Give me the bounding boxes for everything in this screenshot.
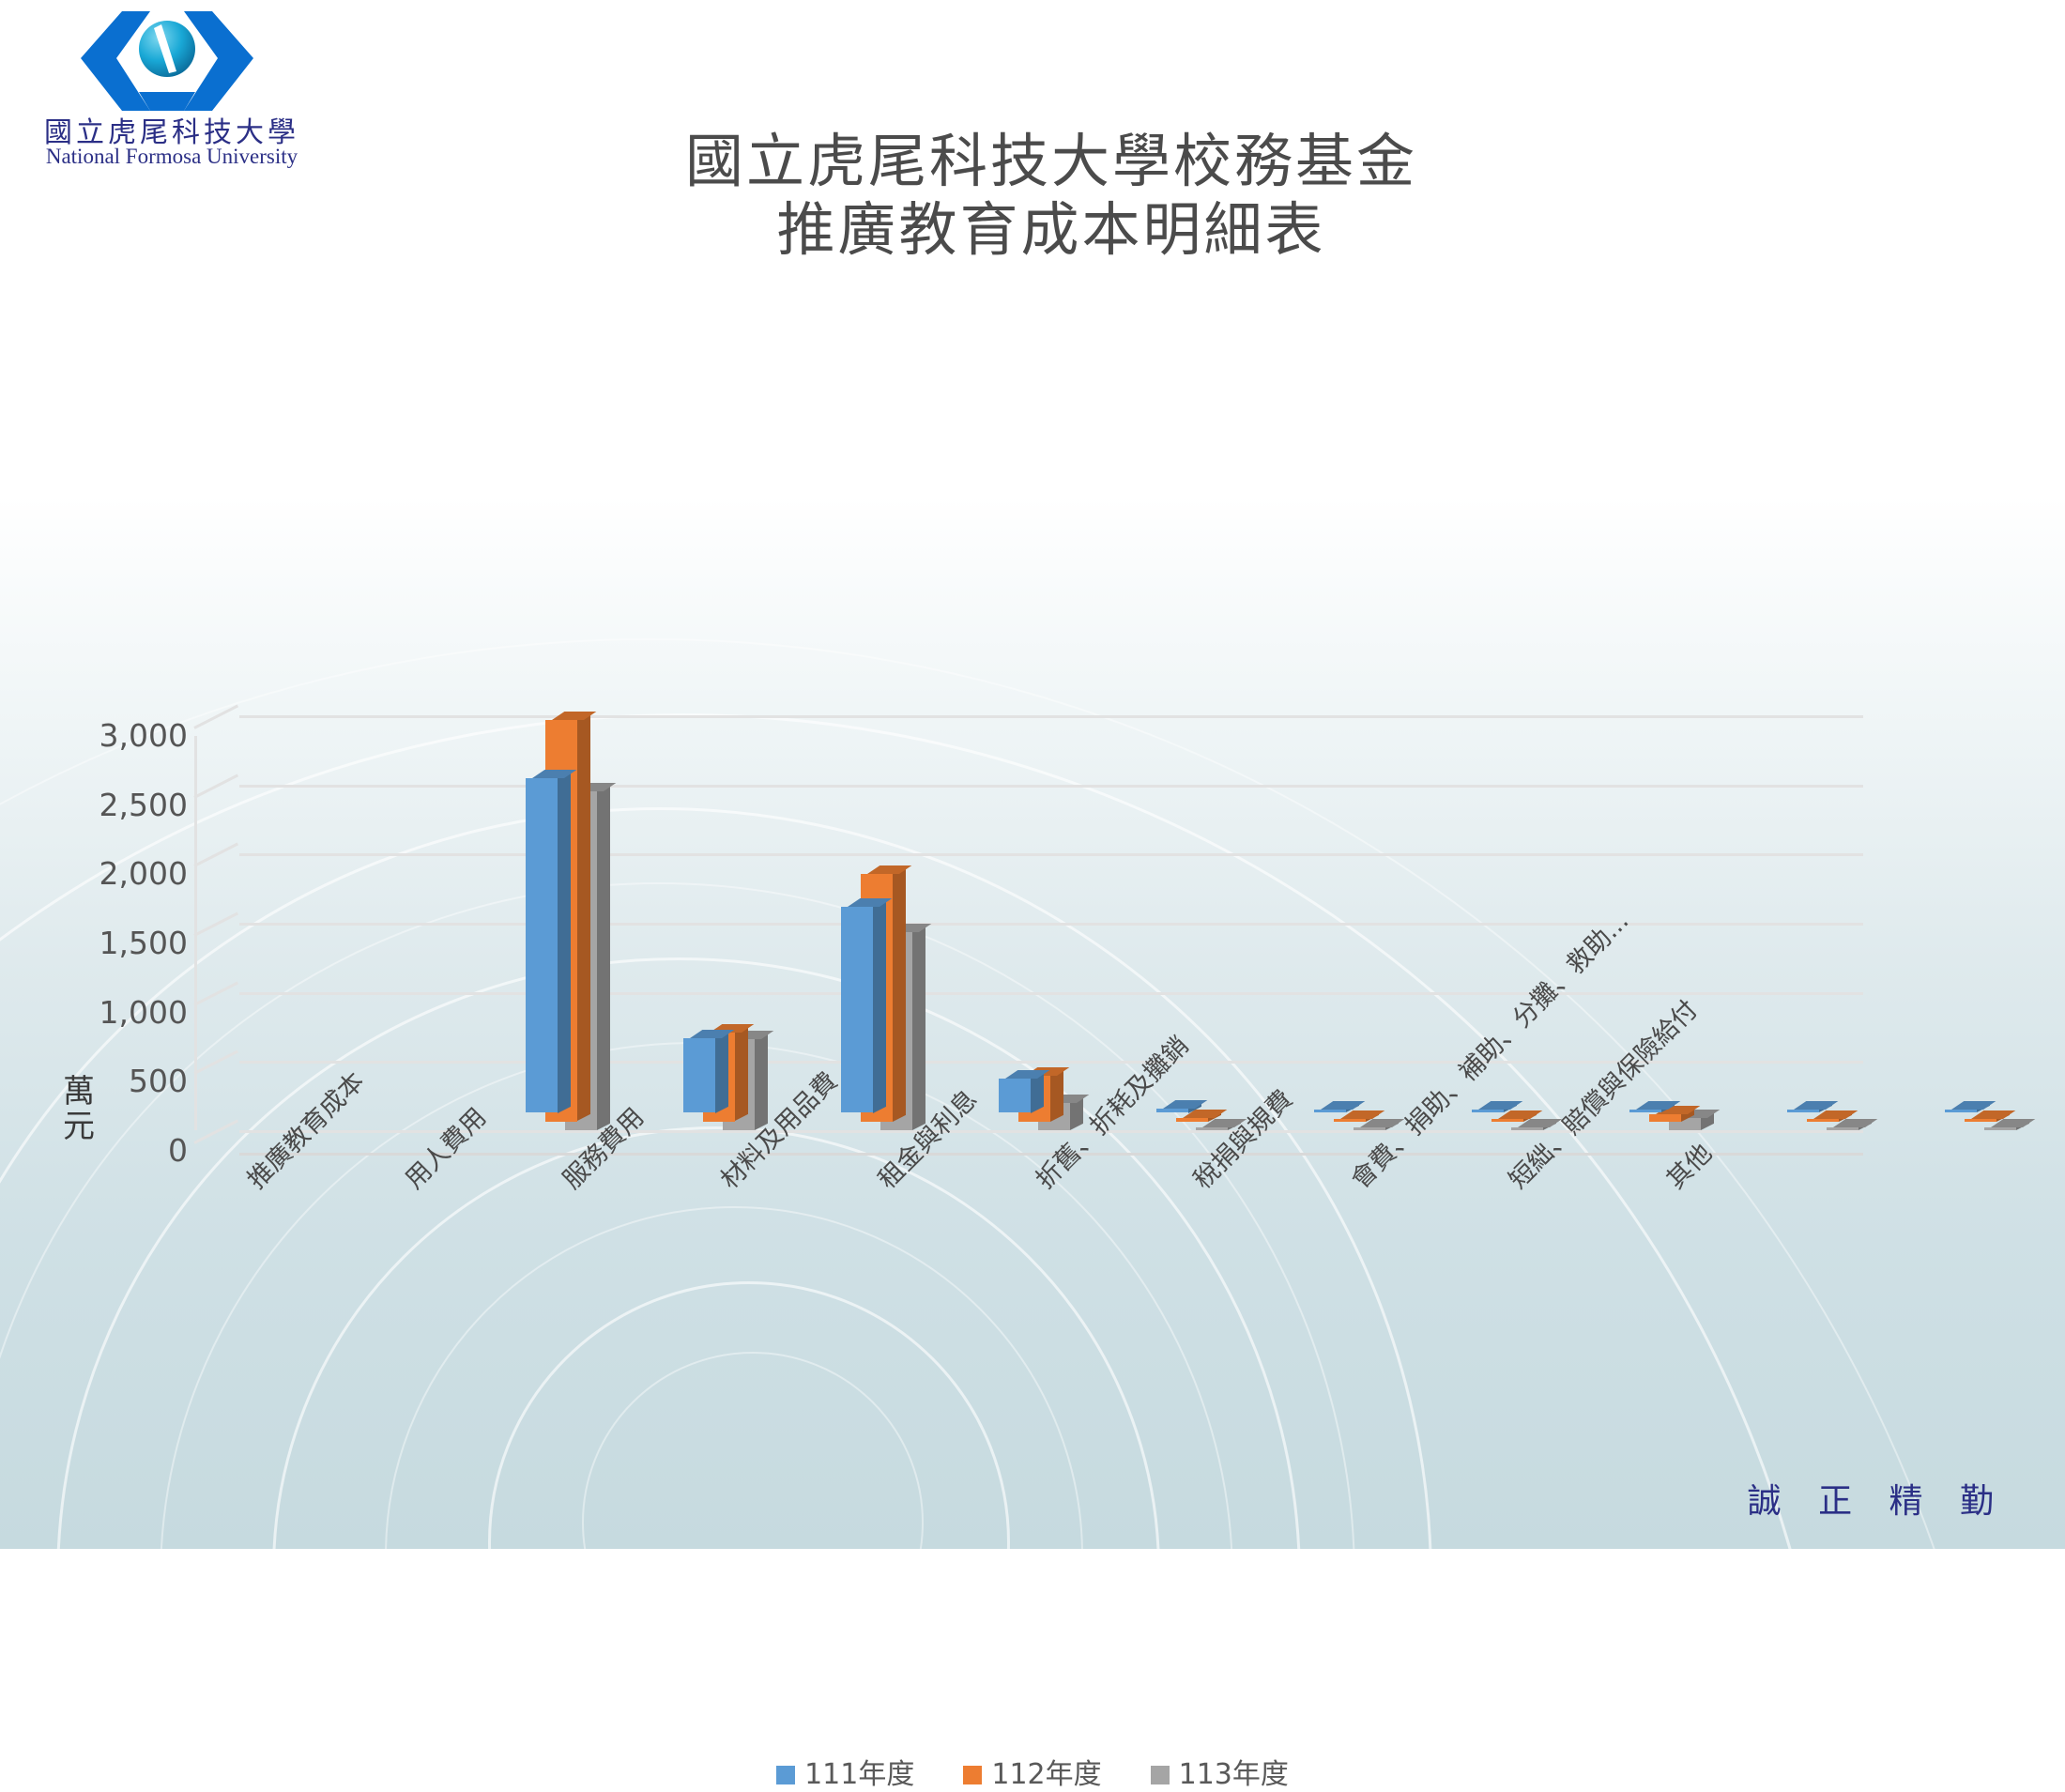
bar-face	[1314, 1110, 1346, 1112]
bar-side	[873, 900, 886, 1113]
bar-5-series-1	[1156, 1109, 1188, 1113]
bar-face	[1491, 1119, 1523, 1122]
bar-face	[683, 1038, 715, 1113]
x-axis-labels: 推廣教育成本用人費用服務費用材料及用品費租金與利息折舊、折耗及攤銷稅捐與規費會費…	[0, 357, 2065, 826]
legend-label: 113年度	[1179, 1758, 1289, 1791]
university-logo: 國立虎尾科技大學 National Formosa University	[17, 8, 327, 176]
bar-face	[1156, 1109, 1188, 1113]
bar-7-series-2	[1491, 1119, 1523, 1122]
title-line-2: 推廣教育成本明細表	[394, 195, 1708, 264]
bar-9-series-1	[1787, 1110, 1819, 1112]
gridline-riser	[193, 912, 238, 937]
legend-swatch-icon	[1151, 1766, 1170, 1784]
bar-face	[1984, 1127, 2016, 1130]
bar-3-series-1	[841, 907, 873, 1113]
bar-10-series-2	[1965, 1119, 1996, 1122]
legend-item-2[interactable]: 112年度	[963, 1751, 1101, 1792]
bar-face	[1965, 1119, 1996, 1122]
legend-swatch-icon	[776, 1766, 795, 1784]
bar-side	[912, 926, 925, 1130]
bar-chart: 萬元 05001,0001,5002,0002,5003,000 推廣教育成本用…	[0, 357, 2065, 1483]
bar-9-series-2	[1807, 1119, 1839, 1122]
bar-face	[999, 1079, 1031, 1113]
bar-face	[1827, 1127, 1858, 1130]
bar-10-series-1	[1945, 1110, 1977, 1112]
bar-10-series-3	[1984, 1127, 2016, 1130]
title-line-1: 國立虎尾科技大學校務基金	[685, 127, 1417, 195]
y-tick-label: 0	[19, 1132, 188, 1169]
page-title: 國立虎尾科技大學校務基金 推廣教育成本明細表	[394, 127, 1708, 264]
y-tick-label: 1,000	[19, 994, 188, 1031]
gridline-riser	[193, 843, 238, 867]
legend-label: 111年度	[804, 1758, 914, 1791]
bar-side	[715, 1032, 728, 1113]
bar-top	[1163, 1100, 1207, 1109]
bar-8-series-2	[1649, 1114, 1681, 1122]
bar-2-series-1	[683, 1038, 715, 1113]
bar-1-series-1	[526, 778, 558, 1113]
gridline	[239, 992, 1863, 995]
y-tick-label: 500	[19, 1063, 188, 1099]
bar-side	[735, 1026, 748, 1121]
hexagon-sphere-icon	[64, 9, 270, 113]
legend-label: 112年度	[991, 1758, 1101, 1791]
bar-7-series-1	[1472, 1110, 1504, 1112]
bar-face	[1629, 1110, 1661, 1112]
bar-face	[1176, 1118, 1208, 1122]
y-tick-label: 2,000	[19, 855, 188, 892]
footer-motto: 誠 正 精 勤	[1748, 1474, 2007, 1523]
gridline-riser	[193, 1050, 238, 1075]
bar-side	[893, 867, 906, 1122]
legend-item-3[interactable]: 113年度	[1151, 1751, 1289, 1792]
gridline-riser	[193, 1120, 238, 1144]
bar-face	[1945, 1110, 1977, 1112]
bar-8-series-1	[1629, 1110, 1661, 1112]
bar-face	[1334, 1119, 1366, 1122]
bar-face	[841, 907, 873, 1113]
bar-4-series-1	[999, 1079, 1031, 1113]
logo-university-name-en: National Formosa University	[17, 145, 327, 169]
legend-swatch-icon	[963, 1766, 982, 1784]
bar-9-series-3	[1827, 1127, 1858, 1130]
bar-5-series-2	[1176, 1118, 1208, 1122]
bar-side	[1050, 1069, 1063, 1122]
bar-face	[1787, 1110, 1819, 1112]
chart-legend: 111年度112年度113年度	[0, 1751, 2065, 1792]
gridline-riser	[193, 981, 238, 1005]
legend-item-1[interactable]: 111年度	[776, 1751, 914, 1792]
bar-face	[526, 778, 558, 1113]
bar-face	[1649, 1114, 1681, 1122]
bar-face	[1472, 1110, 1504, 1112]
y-tick-label: 1,500	[19, 925, 188, 961]
gridline	[239, 853, 1863, 856]
bar-face	[1807, 1119, 1839, 1122]
bar-side	[597, 785, 610, 1130]
bar-6-series-1	[1314, 1110, 1346, 1112]
bar-6-series-2	[1334, 1119, 1366, 1122]
